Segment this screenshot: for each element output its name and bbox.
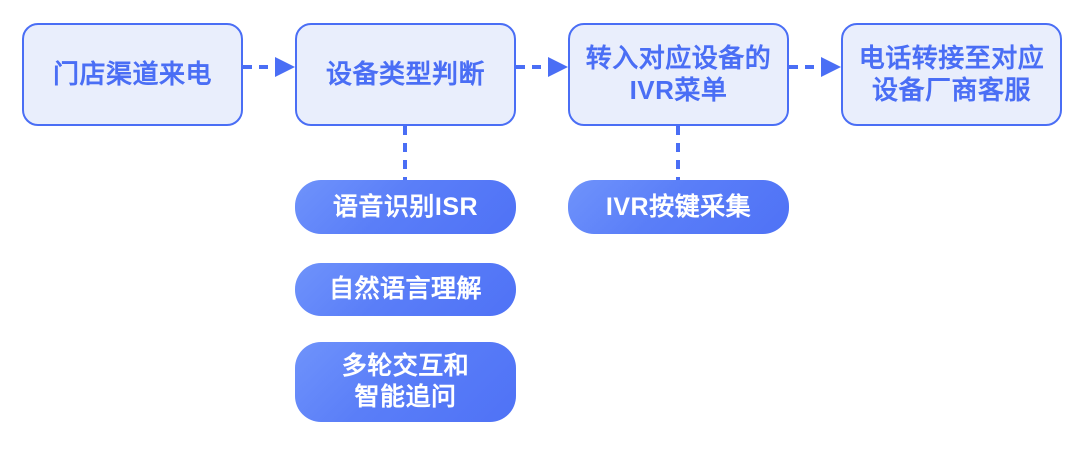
- capability-pill-natural-language-understanding[interactable]: 自然语言理解: [295, 263, 516, 316]
- stage-label: 门店渠道来电: [47, 59, 218, 91]
- capability-pill-speech-recognition[interactable]: 语音识别ISR: [295, 180, 516, 234]
- arrow-stage3-to-stage4: [789, 55, 843, 79]
- stage-label: 电话转接至对应 设备厂商客服: [853, 43, 1051, 106]
- capability-label: 自然语言理解: [319, 274, 492, 305]
- capability-pill-multi-turn-interaction[interactable]: 多轮交互和 智能追问: [295, 342, 516, 422]
- arrow-stage1-to-stage2: [243, 55, 297, 79]
- link-stage3-to-capabilities: [673, 126, 683, 182]
- stage-box-transfer-to-vendor-support[interactable]: 电话转接至对应 设备厂商客服: [841, 23, 1062, 126]
- arrow-head: [821, 57, 841, 77]
- flowchart-canvas: 门店渠道来电 设备类型判断 转入对应设备的 IVR菜单 电话转接至对应 设备厂商…: [0, 0, 1080, 459]
- stage-box-store-channel-call[interactable]: 门店渠道来电: [22, 23, 243, 126]
- capability-label: IVR按键采集: [596, 192, 761, 223]
- capability-pill-ivr-keypress-capture[interactable]: IVR按键采集: [568, 180, 789, 234]
- stage-box-device-type-detection[interactable]: 设备类型判断: [295, 23, 516, 126]
- arrow-head: [275, 57, 295, 77]
- stage-box-route-to-ivr-menu[interactable]: 转入对应设备的 IVR菜单: [568, 23, 789, 126]
- arrow-head: [548, 57, 568, 77]
- capability-label: 语音识别ISR: [323, 192, 488, 223]
- stage-label: 设备类型判断: [320, 59, 491, 91]
- capability-label: 多轮交互和 智能追问: [332, 351, 480, 413]
- stage-label: 转入对应设备的 IVR菜单: [580, 43, 778, 106]
- arrow-stage2-to-stage3: [516, 55, 570, 79]
- link-stage2-to-capabilities: [400, 126, 410, 182]
